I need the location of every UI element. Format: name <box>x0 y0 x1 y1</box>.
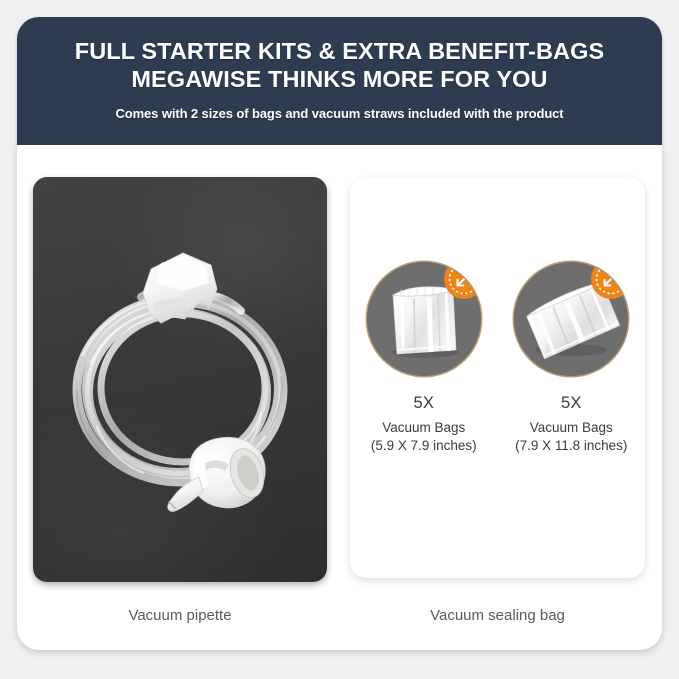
bag-dimensions: (5.9 X 7.9 inches) <box>358 438 490 453</box>
vacuum-pipette-photo <box>33 177 327 582</box>
bag-item-large: 5X Vacuum Bags (7.9 X 11.8 inches) <box>505 262 637 453</box>
infographic-page: FULL STARTER KITS & EXTRA BENEFIT-BAGS M… <box>0 0 679 679</box>
size-arrow-icon <box>444 262 481 299</box>
bag-name: Vacuum Bags <box>505 420 637 435</box>
bag-dimensions: (7.9 X 11.8 inches) <box>505 438 637 453</box>
caption-vacuum-pipette: Vacuum pipette <box>33 607 327 624</box>
vacuum-pipette-illustration <box>33 177 327 582</box>
page-subtitle: Comes with 2 sizes of bags and vacuum st… <box>17 106 662 121</box>
bag-name: Vacuum Bags <box>358 420 490 435</box>
bag-count: 5X <box>358 394 490 413</box>
caption-vacuum-sealing-bag: Vacuum sealing bag <box>350 607 645 624</box>
page-title: FULL STARTER KITS & EXTRA BENEFIT-BAGS M… <box>17 37 662 93</box>
vacuum-bags-card: 5X Vacuum Bags (5.9 X 7.9 inches) <box>350 177 645 578</box>
bag-photo-small <box>367 262 481 376</box>
header-banner: FULL STARTER KITS & EXTRA BENEFIT-BAGS M… <box>17 17 662 145</box>
size-arrow-icon <box>591 262 628 299</box>
bag-photo-large <box>514 262 628 376</box>
bags-row: 5X Vacuum Bags (5.9 X 7.9 inches) <box>350 262 645 453</box>
bag-count: 5X <box>505 394 637 413</box>
bag-item-small: 5X Vacuum Bags (5.9 X 7.9 inches) <box>358 262 490 453</box>
